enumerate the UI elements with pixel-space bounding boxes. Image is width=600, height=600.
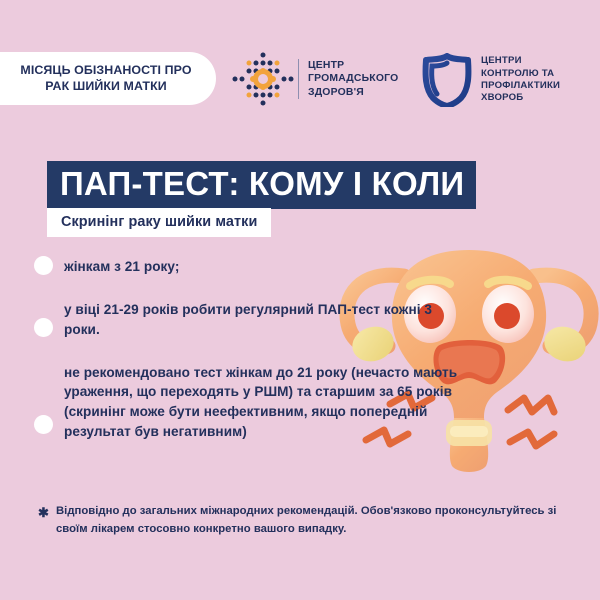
infographic-page: МІСЯЦЬ ОБІЗНАНОСТІ ПРО РАК ШИЙКИ МАТКИ	[0, 0, 600, 600]
cdc-shield-icon	[421, 53, 473, 107]
page-title: ПАП-ТЕСТ: КОМУ І КОЛИ	[47, 161, 476, 209]
cph-line2: ГРОМАДСЬКОГО	[308, 72, 398, 85]
cph-dot-ring-icon	[232, 50, 294, 108]
campaign-banner-text: МІСЯЦЬ ОБІЗНАНОСТІ ПРО РАК ШИЙКИ МАТКИ	[0, 63, 192, 94]
footnote: ✱ Відповідно до загальних міжнародних ре…	[38, 503, 568, 538]
cdc-line3: ПРОФІЛАКТИКИ	[481, 80, 560, 92]
list-item: жінкам з 21 року;	[34, 256, 464, 277]
list-item-text: не рекомендовано тест жінкам до 21 року …	[64, 362, 464, 442]
cdc-line1: ЦЕНТРИ	[481, 55, 560, 67]
bullet-dot-icon	[34, 318, 53, 337]
header: МІСЯЦЬ ОБІЗНАНОСТІ ПРО РАК ШИЙКИ МАТКИ	[0, 0, 600, 118]
campaign-banner-line2: РАК ШИЙКИ МАТКИ	[20, 79, 191, 95]
footnote-text: Відповідно до загальних міжнародних реко…	[56, 503, 568, 538]
cdc-line2: КОНТРОЛЮ ТА	[481, 68, 560, 80]
asterisk-icon: ✱	[38, 503, 56, 523]
logo-public-health-center: ЦЕНТР ГРОМАДСЬКОГО ЗДОРОВ'Я	[232, 49, 412, 109]
campaign-banner: МІСЯЦЬ ОБІЗНАНОСТІ ПРО РАК ШИЙКИ МАТКИ	[0, 52, 216, 105]
logo-divider	[298, 59, 299, 99]
logo-public-health-text: ЦЕНТР ГРОМАДСЬКОГО ЗДОРОВ'Я	[308, 59, 398, 99]
bullet-dot-icon	[34, 415, 53, 434]
cph-line1: ЦЕНТР	[308, 59, 398, 72]
logo-cdc-text: ЦЕНТРИ КОНТРОЛЮ ТА ПРОФІЛАКТИКИ ХВОРОБ	[481, 55, 560, 105]
logo-cdc: ЦЕНТРИ КОНТРОЛЮ ТА ПРОФІЛАКТИКИ ХВОРОБ	[421, 49, 599, 111]
list-item-text: жінкам з 21 року;	[64, 256, 179, 277]
cdc-line4: ХВОРОБ	[481, 92, 560, 104]
list-item: не рекомендовано тест жінкам до 21 року …	[34, 362, 464, 442]
page-subtitle: Скринінг раку шийки матки	[47, 208, 271, 237]
campaign-banner-line1: МІСЯЦЬ ОБІЗНАНОСТІ ПРО	[20, 63, 191, 79]
bullet-dot-icon	[34, 256, 53, 275]
bullet-list: жінкам з 21 року; у віці 21-29 років роб…	[34, 256, 464, 456]
list-item: у віці 21-29 років робити регулярний ПАП…	[34, 299, 464, 340]
cph-line3: ЗДОРОВ'Я	[308, 86, 398, 99]
list-item-text: у віці 21-29 років робити регулярний ПАП…	[64, 299, 464, 340]
